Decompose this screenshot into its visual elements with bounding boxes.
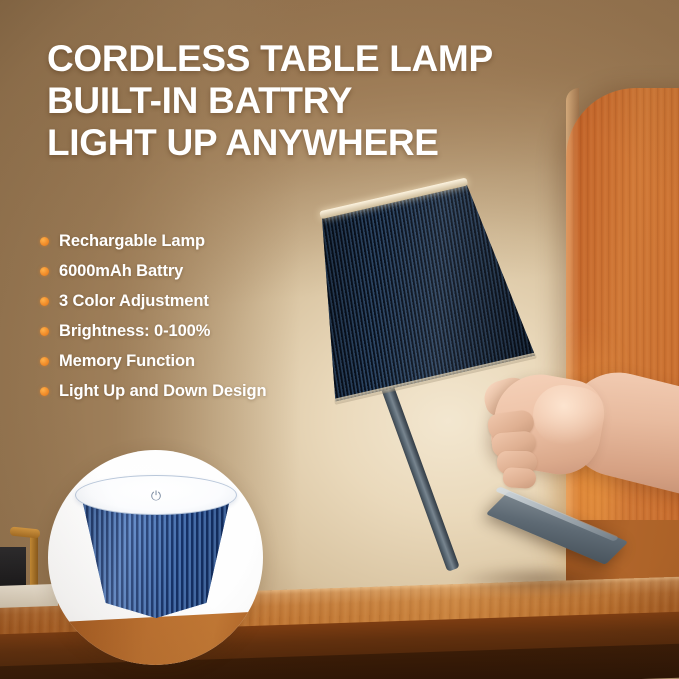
feature-list: Rechargable Lamp 6000mAh Battry 3 Color … bbox=[40, 226, 370, 406]
feature-label: 3 Color Adjustment bbox=[59, 292, 209, 311]
feature-label: Brightness: 0-100% bbox=[59, 322, 210, 341]
list-item: 3 Color Adjustment bbox=[40, 286, 370, 316]
feature-label: Memory Function bbox=[59, 352, 195, 371]
list-item: Memory Function bbox=[40, 346, 370, 376]
product-advertisement-image: ⏻ CORDLESS TABLE LAMP BUILT-IN BATTRY LI… bbox=[0, 0, 679, 679]
headline-line-3: LIGHT UP ANYWHERE bbox=[47, 122, 567, 164]
bullet-dot-icon bbox=[40, 297, 49, 306]
list-item: Light Up and Down Design bbox=[40, 376, 370, 406]
list-item: Brightness: 0-100% bbox=[40, 316, 370, 346]
headline-line-2: BUILT-IN BATTRY bbox=[47, 80, 567, 122]
bullet-dot-icon bbox=[40, 267, 49, 276]
list-item: Rechargable Lamp bbox=[40, 226, 370, 256]
bullet-dot-icon bbox=[40, 327, 49, 336]
headline-line-1: CORDLESS TABLE LAMP bbox=[47, 38, 567, 80]
bullet-dot-icon bbox=[40, 387, 49, 396]
list-item: 6000mAh Battry bbox=[40, 256, 370, 286]
feature-label: 6000mAh Battry bbox=[59, 262, 183, 281]
feature-label: Light Up and Down Design bbox=[59, 382, 267, 401]
bullet-dot-icon bbox=[40, 357, 49, 366]
headline: CORDLESS TABLE LAMP BUILT-IN BATTRY LIGH… bbox=[47, 38, 567, 165]
bullet-dot-icon bbox=[40, 237, 49, 246]
feature-label: Rechargable Lamp bbox=[59, 232, 205, 251]
